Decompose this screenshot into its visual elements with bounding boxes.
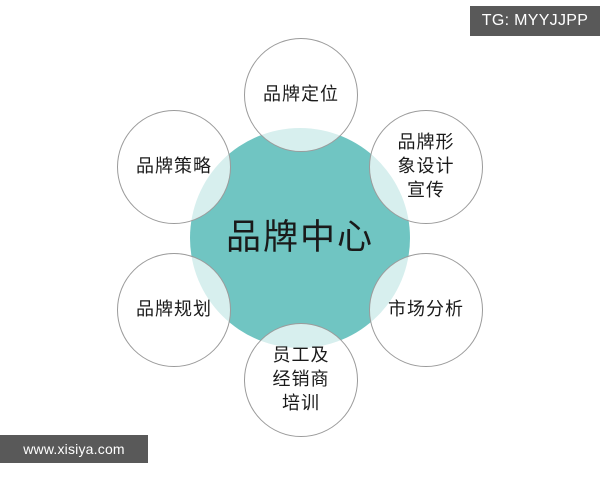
node-label-market-analysis: 市场分析 [387,298,465,322]
node-label-employee-dealer-training: 员工及经销商培训 [266,344,336,415]
node-brand-strategy[interactable]: 品牌策略 [117,110,231,224]
node-market-analysis[interactable]: 市场分析 [369,253,483,367]
node-label-brand-image-design-promotion: 品牌形象设计宣传 [391,131,461,202]
node-brand-image-design-promotion[interactable]: 品牌形象设计宣传 [369,110,483,224]
watermark-label: www.xisiya.com [0,435,148,463]
node-employee-dealer-training[interactable]: 员工及经销商培训 [244,323,358,437]
node-brand-planning[interactable]: 品牌规划 [117,253,231,367]
node-label-brand-positioning: 品牌定位 [262,83,340,107]
node-label-brand-strategy: 品牌策略 [135,155,213,179]
node-label-brand-planning: 品牌规划 [135,298,213,322]
tag-badge: TG: MYYJJPP [470,6,600,36]
node-brand-positioning[interactable]: 品牌定位 [244,38,358,152]
diagram-canvas: 品牌中心 品牌定位 品牌形象设计宣传 市场分析 员工及经销商培训 品牌规划 品牌… [0,0,600,480]
hub-label: 品牌中心 [226,218,374,258]
